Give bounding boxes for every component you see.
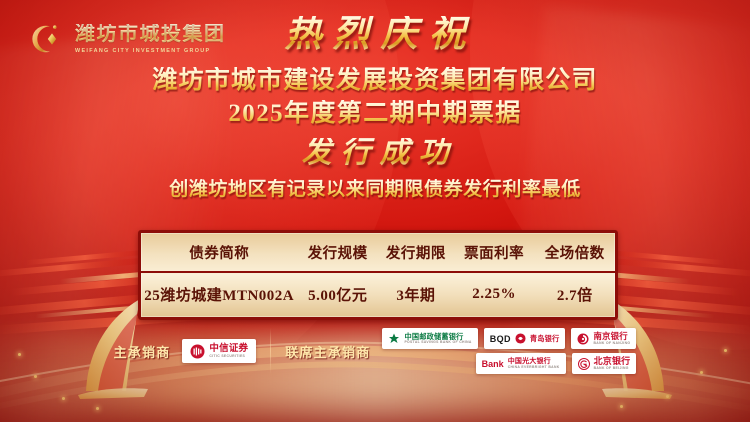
beijing-name-cn: 北京银行 [594,357,631,367]
cell-bond-name: 25潍坊城建MTN002A [141,272,297,317]
nanjing-name-en: BANK OF NANJING [593,341,630,345]
cell-subscription-multiple: 2.7倍 [534,272,615,317]
bank-logo-row: 中国邮政储蓄银行 POSTAL SAVINGS BANK OF CHINA BQ… [382,328,636,349]
issue-description: 2025年度第二期中期票据 [0,100,750,129]
column-header-issue-term: 发行期限 [378,233,454,272]
underwriter-divider [270,328,271,374]
celebration-title: 热烈庆祝 [0,16,750,53]
cell-issue-size: 5.00亿元 [297,272,378,317]
bank-of-nanjing-icon [577,333,589,345]
bank-logo-row: Bank 中国光大银行 CHINA EVERBRIGHT BANK 北京银行 B… [382,353,636,374]
citic-name-en: CITIC SECURITIES [209,354,248,358]
table-header-row: 债券简称 发行规模 发行期限 票面利率 全场倍数 [141,233,615,272]
bank-logo-postal-savings: 中国邮政储蓄银行 POSTAL SAVINGS BANK OF CHINA [382,328,477,349]
lead-underwriter-label: 主承销商 [114,342,171,361]
cell-coupon-rate: 2.25% [454,272,535,317]
postal-savings-name-cn: 中国邮政储蓄银行 [404,333,471,341]
bond-details-table: 债券简称 发行规模 发行期限 票面利率 全场倍数 25潍坊城建MTN002A 5… [138,230,618,320]
qingdao-mark: BQD [490,334,511,344]
achievement-subtitle: 创潍坊地区有记录以来同期限债券发行利率最低 [0,179,750,202]
postal-savings-name-en: POSTAL SAVINGS BANK OF CHINA [404,340,471,344]
bank-logo-everbright: Bank 中国光大银行 CHINA EVERBRIGHT BANK [476,353,566,374]
lead-underwriter-logo-citic: 中信证券 CITIC SECURITIES [182,339,256,363]
everbright-mark: Bank [482,359,504,369]
success-title: 发行成功 [0,138,750,168]
bank-logo-nanjing: 南京银行 BANK OF NANJING [571,328,636,349]
qingdao-name-cn: 青岛银行 [530,335,560,343]
joint-underwriter-logos: 中国邮政储蓄银行 POSTAL SAVINGS BANK OF CHINA BQ… [382,328,636,374]
bank-logo-beijing: 北京银行 BANK OF BEIJING [572,353,637,374]
underwriters-strip: 主承销商 中信证券 CITIC SECURITIES 联席主承销商 [0,322,750,380]
nanjing-name-cn: 南京银行 [593,332,630,341]
headline-block: 热烈庆祝 潍坊市城市建设发展投资集团有限公司 2025年度第二期中期票据 发行成… [0,16,750,201]
bank-of-qingdao-icon [515,333,526,344]
beijing-name-en: BANK OF BEIJING [594,366,631,370]
everbright-mark-text: Bank [482,359,504,369]
column-header-subscription-multiple: 全场倍数 [534,233,615,272]
citic-circular-emblem-icon [190,344,205,359]
column-header-issue-size: 发行规模 [297,233,378,272]
table-row: 25潍坊城建MTN002A 5.00亿元 3年期 2.25% 2.7倍 [141,272,615,317]
column-header-bond-name: 债券简称 [141,233,297,272]
bank-of-beijing-icon [578,358,590,370]
everbright-name-en: CHINA EVERBRIGHT BANK [508,365,560,369]
everbright-name-cn: 中国光大银行 [508,358,560,366]
cell-issue-term: 3年期 [378,272,454,317]
bank-logo-qingdao: BQD 青岛银行 [484,328,566,349]
poster-canvas: 潍坊市城投集团 WEIFANG CITY INVESTMENT GROUP 热烈… [0,0,750,422]
postal-savings-bank-icon [388,333,400,345]
citic-name-cn: 中信证券 [209,344,248,354]
column-header-coupon-rate: 票面利率 [454,233,535,272]
issuer-company-name: 潍坊市城市建设发展投资集团有限公司 [0,67,750,96]
joint-underwriter-label: 联席主承销商 [285,342,370,361]
